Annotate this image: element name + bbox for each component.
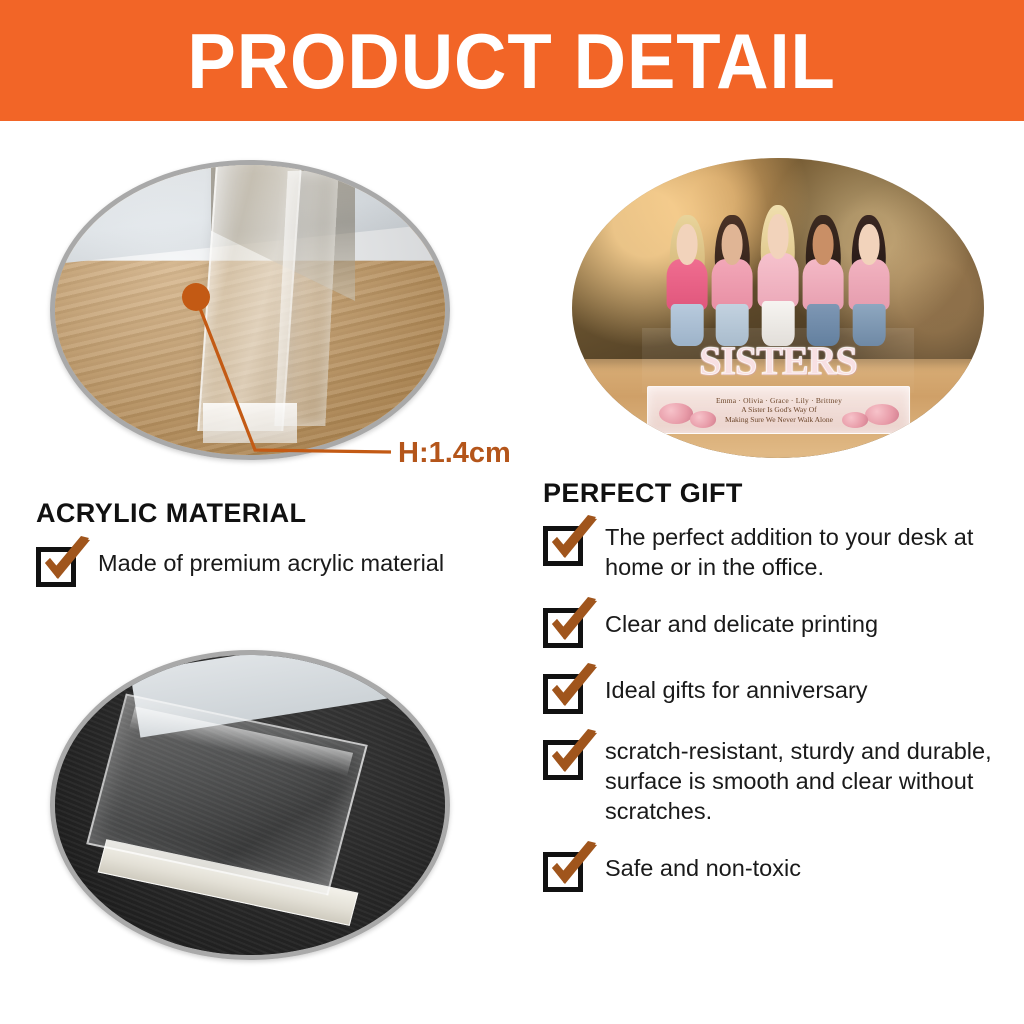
checkbox-icon — [543, 526, 583, 566]
torso — [712, 259, 753, 310]
head — [768, 214, 789, 259]
checkbox-icon — [543, 674, 583, 714]
girl-figure — [664, 194, 709, 343]
section-title-acrylic-material: ACRYLIC MATERIAL — [36, 498, 306, 529]
section-title-perfect-gift: PERFECT GIFT — [543, 478, 743, 509]
product-detail-infographic: PRODUCT DETAIL — [0, 0, 1024, 1024]
girl-figure — [801, 194, 846, 343]
list-item: Ideal gifts for anniversary — [543, 670, 1013, 714]
rose-decoration-icon — [690, 411, 716, 427]
torso — [758, 253, 799, 308]
list-item-label: Ideal gifts for anniversary — [605, 670, 868, 705]
height-label: H:1.4cm — [398, 437, 511, 470]
list-item-label: The perfect addition to your desk at hom… — [605, 522, 1013, 582]
list-item: Safe and non-toxic — [543, 848, 1013, 892]
torso — [667, 259, 708, 310]
torso — [848, 259, 889, 310]
head — [677, 224, 698, 266]
plaque-names: Emma · Olivia · Grace · Lily · Brittney — [716, 396, 842, 405]
checklist-perfect-gift: The perfect addition to your desk at hom… — [543, 522, 1013, 914]
list-item-label: Made of premium acrylic material — [98, 543, 444, 578]
girl-figure — [710, 194, 755, 343]
list-item-label: scratch-resistant, sturdy and durable, s… — [605, 736, 1013, 826]
check-icon — [544, 515, 600, 567]
legs — [671, 304, 704, 346]
check-icon — [544, 841, 600, 893]
check-icon — [544, 663, 600, 715]
list-item: Made of premium acrylic material — [36, 543, 516, 587]
sisters-plaque: SISTERS Emma · Olivia · Grace · Lily · B… — [642, 194, 914, 434]
plaque-quote-line-2: Making Sure We Never Walk Alone — [725, 415, 833, 424]
list-item-label: Safe and non-toxic — [605, 848, 801, 883]
photo-acrylic-edge-view — [50, 160, 450, 460]
legs — [853, 304, 886, 346]
five-girls-figures — [658, 194, 897, 343]
checkbox-icon — [543, 852, 583, 892]
legs — [716, 304, 749, 346]
plaque-base: Emma · Olivia · Grace · Lily · Brittney … — [647, 386, 910, 434]
torso — [803, 259, 844, 310]
plaque-quote-line-1: A Sister Is God's Way Of — [741, 405, 816, 414]
checkbox-icon — [543, 608, 583, 648]
girl-figure — [846, 194, 891, 343]
checkbox-icon — [36, 547, 76, 587]
list-item-label: Clear and delicate printing — [605, 604, 878, 639]
photo-sisters-plaque: SISTERS Emma · Olivia · Grace · Lily · B… — [572, 158, 984, 458]
list-item: The perfect addition to your desk at hom… — [543, 522, 1013, 582]
checklist-acrylic-material: Made of premium acrylic material — [36, 543, 516, 609]
check-icon — [544, 729, 600, 781]
check-icon — [544, 597, 600, 649]
rose-decoration-icon — [842, 412, 868, 428]
checkbox-icon — [543, 740, 583, 780]
list-item: scratch-resistant, sturdy and durable, s… — [543, 736, 1013, 826]
rose-decoration-icon — [865, 404, 899, 425]
acrylic-block-base — [203, 403, 297, 444]
header-banner: PRODUCT DETAIL — [0, 0, 1024, 121]
photo-acrylic-slab-view — [50, 650, 450, 960]
page-title: PRODUCT DETAIL — [188, 22, 836, 100]
rose-decoration-icon — [659, 403, 693, 424]
legs — [762, 301, 795, 346]
list-item: Clear and delicate printing — [543, 604, 1013, 648]
head — [722, 224, 743, 266]
legs — [807, 304, 840, 346]
head — [813, 224, 834, 266]
girl-figure — [755, 182, 800, 343]
head — [858, 224, 879, 266]
check-icon — [37, 536, 93, 588]
